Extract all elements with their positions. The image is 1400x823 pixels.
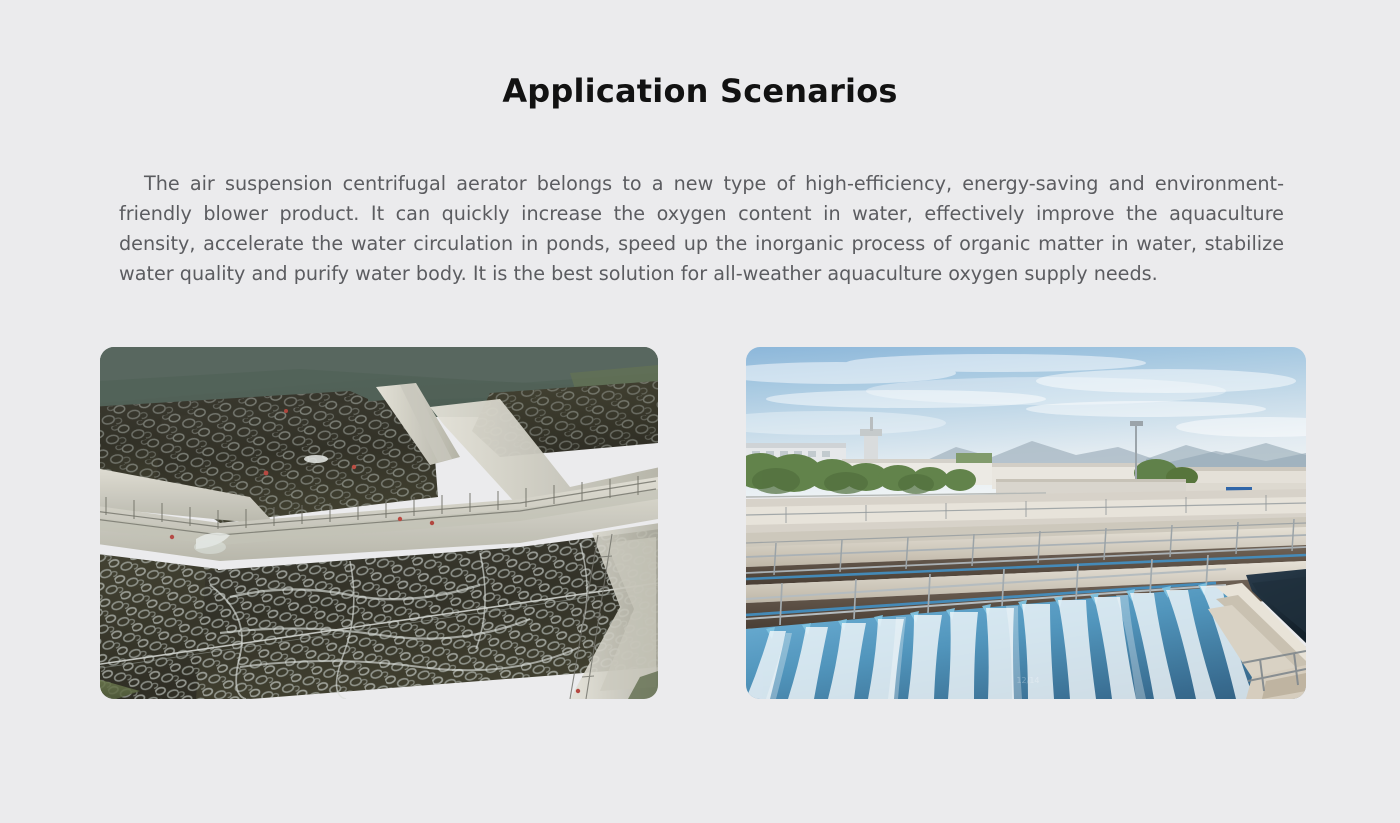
- aquaculture-ponds-illustration: [100, 347, 658, 699]
- description-paragraph: The air suspension centrifugal aerator b…: [119, 169, 1284, 289]
- water-treatment-plant-photo: 12/14: [746, 347, 1306, 699]
- aquaculture-ponds-aerial-photo: [100, 347, 658, 699]
- water-treatment-illustration: 12/14: [746, 347, 1306, 699]
- application-scenarios-page: Application Scenarios The air suspension…: [0, 0, 1400, 823]
- page-title: Application Scenarios: [0, 71, 1400, 111]
